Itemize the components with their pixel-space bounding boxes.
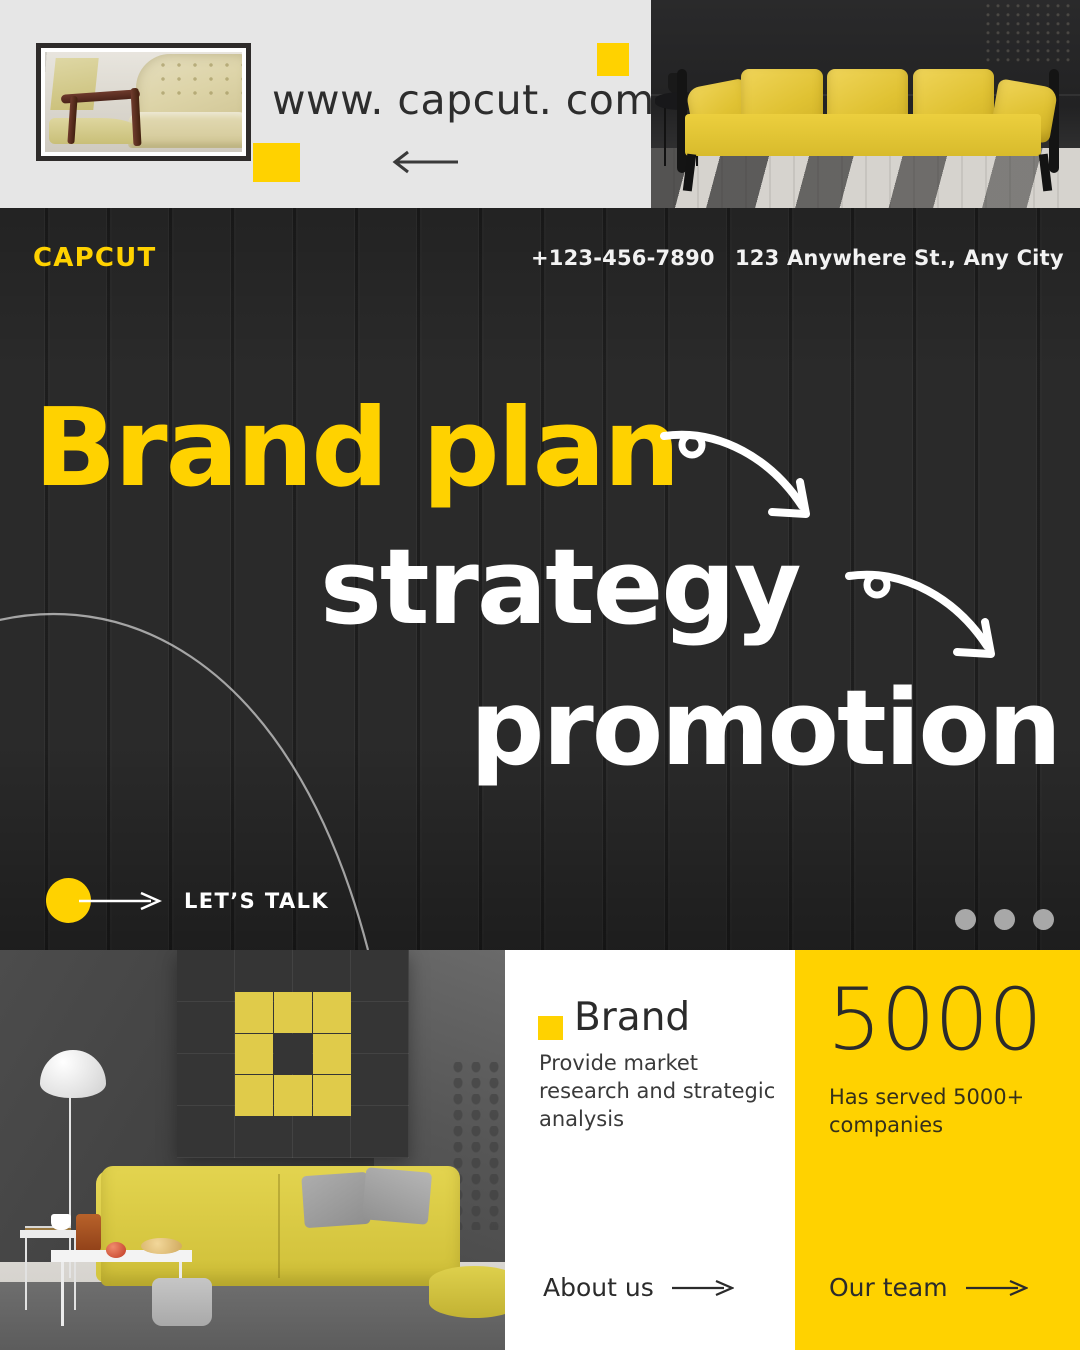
framed-chair-photo	[36, 43, 251, 161]
poster-canvas: www. capcut. com	[0, 0, 1080, 1350]
carousel-dot-2[interactable]	[994, 909, 1015, 930]
carousel-dots[interactable]	[955, 909, 1054, 930]
room-side-table	[20, 1230, 81, 1238]
bottom-row: Brand Provide market research and strate…	[0, 950, 1080, 1350]
brand-logo: CAPCUT	[33, 243, 156, 273]
art-tile-hole	[274, 1034, 312, 1075]
room-cup	[51, 1214, 71, 1230]
yellow-square-accent-upper	[597, 43, 629, 76]
sofa-photo-seat	[685, 114, 1041, 156]
right-arrow-icon	[966, 1280, 1028, 1296]
art-tile	[274, 1075, 312, 1116]
art-tile	[313, 1034, 351, 1075]
left-arrow-icon[interactable]	[390, 148, 460, 176]
frame-mat	[41, 48, 246, 156]
room-yellow-ottoman	[429, 1266, 505, 1318]
room-grey-pillow-2	[361, 1167, 431, 1225]
room-wall-art-panel	[177, 950, 409, 1158]
art-tile	[235, 1034, 273, 1075]
sofa-photo-twigs	[981, 4, 1075, 66]
stat-card-body: Has served 5000+ companies	[829, 1083, 1049, 1140]
brand-card: Brand Provide market research and strate…	[505, 950, 795, 1350]
sofa-photo-floor-shadow	[651, 148, 1080, 208]
lets-talk-label: LET’S TALK	[184, 889, 329, 913]
headline-line-1: Brand plan	[34, 395, 678, 503]
about-us-link[interactable]: About us	[543, 1273, 734, 1302]
brand-card-body: Provide market research and strategic an…	[539, 1050, 787, 1134]
art-tile	[235, 992, 273, 1033]
room-sofa-seam	[278, 1174, 280, 1278]
room-juice-jug	[76, 1214, 101, 1254]
top-band: www. capcut. com	[0, 0, 1080, 208]
headline-line-3: promotion	[470, 676, 1060, 780]
contact-address[interactable]: 123 Anywhere St., Any City	[735, 246, 1064, 270]
stat-card-number: 5000	[827, 977, 1042, 1063]
brand-card-accent-square	[538, 1016, 563, 1040]
lets-talk-button[interactable]: LET’S TALK	[46, 878, 329, 923]
room-wall-art-tiles	[235, 992, 351, 1117]
art-tile	[235, 1075, 273, 1116]
our-team-link[interactable]: Our team	[829, 1273, 1028, 1302]
chair-image-chair-seat	[49, 118, 136, 144]
headline-line-2: strategy	[320, 535, 800, 639]
right-arrow-icon	[79, 891, 162, 911]
website-url[interactable]: www. capcut. com	[272, 76, 655, 124]
chair-image-sofa-seat	[128, 112, 242, 148]
contact-phone[interactable]: +123-456-7890	[531, 246, 715, 270]
room-grey-pouf	[152, 1278, 213, 1326]
brand-card-title: Brand	[574, 995, 690, 1040]
chair-image-tufting	[155, 58, 242, 102]
yellow-square-accent-lower	[253, 143, 300, 182]
stat-card: 5000 Has served 5000+ companies Our team	[795, 950, 1080, 1350]
room-fruit-bowl	[141, 1238, 181, 1254]
art-tile	[274, 992, 312, 1033]
art-tile	[313, 1075, 351, 1116]
art-tile	[313, 992, 351, 1033]
our-team-label: Our team	[829, 1273, 948, 1302]
about-us-label: About us	[543, 1273, 654, 1302]
carousel-dot-3[interactable]	[1033, 909, 1054, 930]
right-arrow-icon	[672, 1280, 734, 1296]
living-room-photo	[0, 950, 505, 1350]
carousel-dot-1[interactable]	[955, 909, 976, 930]
sofa-photo	[651, 0, 1080, 208]
chair-image	[45, 52, 242, 152]
room-grey-pillow-1	[301, 1172, 370, 1228]
